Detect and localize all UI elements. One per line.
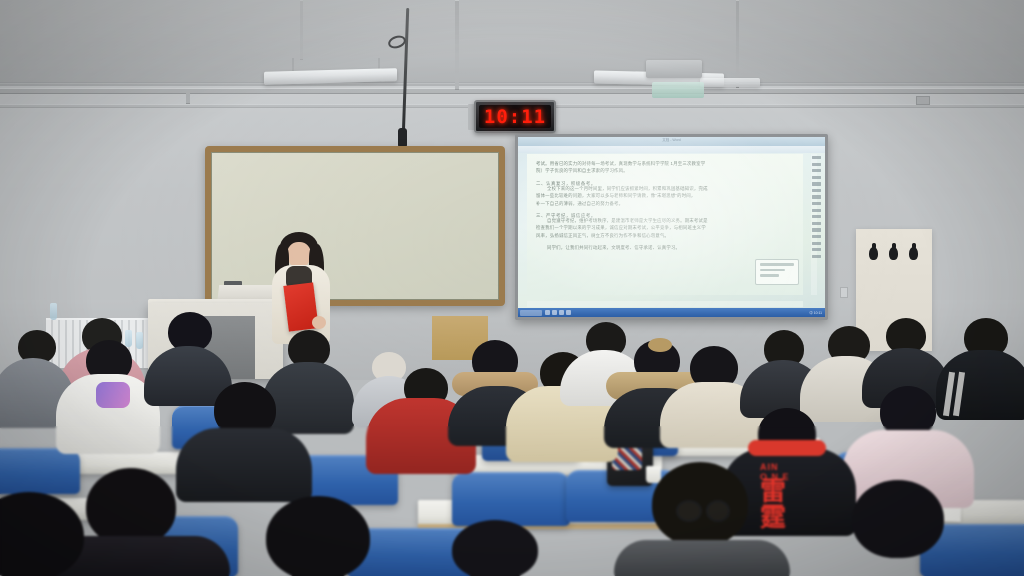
conduit-pipe-vertical bbox=[186, 88, 190, 104]
projected-image: 文档 - Word 考试。用省已的实力的对待每一场考试，真现数学与系统科学学院 … bbox=[518, 137, 825, 317]
toolbar-icon[interactable] bbox=[812, 169, 821, 172]
document-line: 检查我们一个学期以来的学习成果，诚信应对期末考试，公平竞争，与相同班主义学 bbox=[536, 224, 794, 231]
ribbon-toolbar bbox=[518, 146, 825, 153]
presenter-at-podium bbox=[268, 232, 334, 344]
taskbar-icon[interactable] bbox=[552, 310, 557, 315]
status-bar bbox=[527, 301, 803, 307]
water-bottle bbox=[136, 332, 143, 349]
toolbar-icon[interactable] bbox=[812, 163, 821, 166]
student-head bbox=[266, 496, 370, 576]
taskbar[interactable]: 中 10:11 bbox=[518, 308, 825, 317]
conduit-pipe-vertical bbox=[300, 0, 303, 60]
toolbar-icon[interactable] bbox=[812, 189, 821, 192]
hoodie-graphic bbox=[96, 382, 130, 408]
conduit-pipe-horizontal bbox=[0, 88, 1024, 94]
toolbar-icon[interactable] bbox=[812, 222, 821, 225]
student-head bbox=[452, 520, 538, 576]
hair-scrunchie bbox=[648, 338, 672, 352]
window-titlebar: 文档 - Word bbox=[518, 137, 825, 146]
eyeglasses-icon bbox=[676, 500, 702, 522]
ceiling-seam bbox=[0, 82, 1024, 84]
projector-lens bbox=[652, 82, 704, 98]
coat-hook-icon bbox=[909, 247, 918, 260]
toolbar-icon[interactable] bbox=[812, 242, 821, 245]
water-bottle bbox=[50, 303, 57, 320]
toolbar-icon[interactable] bbox=[812, 176, 821, 179]
toolbar-icon[interactable] bbox=[812, 248, 821, 251]
student-jacket bbox=[262, 362, 354, 434]
classroom-chair bbox=[0, 448, 80, 494]
student-head bbox=[852, 480, 944, 558]
coat-hook-icon bbox=[869, 247, 878, 260]
student-jacket bbox=[614, 540, 790, 576]
document-line: 院）学子优良的学风和自主求索的学习作风。 bbox=[536, 167, 794, 174]
student-head bbox=[652, 462, 748, 546]
light-switch[interactable] bbox=[840, 287, 848, 298]
toolbar-icon[interactable] bbox=[812, 202, 821, 205]
toolbar-icon[interactable] bbox=[812, 182, 821, 185]
conduit-pipe-vertical bbox=[455, 0, 459, 90]
whiteboard bbox=[205, 146, 505, 306]
taskbar-icon[interactable] bbox=[559, 310, 564, 315]
clock-time: 10:11 bbox=[484, 106, 546, 128]
presenter-hand bbox=[312, 316, 326, 329]
classroom-photo: 10:11 文档 - Word 考试。用省已的实力的对待每一场考试，真现数学与系… bbox=[0, 0, 1024, 576]
student-head bbox=[86, 468, 176, 546]
taskbar-tray: 中 10:11 bbox=[809, 310, 822, 315]
dialog-line bbox=[760, 274, 779, 277]
hanging-microphone bbox=[398, 128, 407, 148]
document-line: 自觉遵守考纪，维护考场秩序，是建温市老师是大学生应尽的义务。期末考试是 bbox=[536, 217, 794, 224]
jacket-text-line2: 雷 霆 bbox=[760, 478, 790, 530]
toolbar-icon[interactable] bbox=[812, 228, 821, 231]
fluorescent-tube-light bbox=[700, 78, 760, 87]
side-toolbar[interactable] bbox=[809, 151, 824, 297]
ceiling-projector bbox=[646, 60, 702, 78]
coat-hook-icon bbox=[889, 247, 898, 260]
window-title: 文档 - Word bbox=[662, 138, 680, 143]
document-line: 补一下自己的薄弱，通过自己的努力备考。 bbox=[536, 200, 794, 207]
taskbar-icon[interactable] bbox=[566, 310, 571, 315]
document-line: 全校下来的这一个月时间里，同学们应该抓紧时间，积累和巩固基础知识，完成 bbox=[536, 185, 794, 192]
classroom-chair bbox=[452, 472, 570, 526]
toolbar-icon[interactable] bbox=[812, 215, 821, 218]
ceiling bbox=[0, 0, 1024, 86]
taskbar-icons[interactable] bbox=[545, 310, 571, 315]
toolbar-icon[interactable] bbox=[812, 235, 821, 238]
conduit-pipe-vertical bbox=[736, 0, 739, 88]
taskbar-icon[interactable] bbox=[545, 310, 550, 315]
document-line: 考试。用省已的实力的对待每一场考试，真现数学与系统科学学院 1月至三次教室学 bbox=[536, 160, 794, 167]
light-hanger bbox=[292, 58, 294, 71]
eyeglasses-icon bbox=[706, 500, 730, 522]
toolbar-icon[interactable] bbox=[812, 156, 821, 159]
projection-screen: 文档 - Word 考试。用省已的实力的对待每一场考试，真现数学与系统科学学院 … bbox=[515, 134, 828, 320]
student-jacket bbox=[176, 428, 312, 502]
floating-dialog[interactable] bbox=[755, 259, 799, 285]
start-button[interactable] bbox=[520, 310, 542, 316]
red-collar bbox=[748, 440, 826, 456]
whiteboard-surface bbox=[211, 152, 499, 300]
toolbar-icon[interactable] bbox=[812, 195, 821, 198]
toolbar-icon[interactable] bbox=[812, 255, 821, 258]
wall-plate bbox=[916, 96, 930, 105]
dialog-line bbox=[760, 269, 785, 272]
led-wall-clock: 10:11 bbox=[474, 100, 556, 133]
toolbar-icon[interactable] bbox=[812, 209, 821, 212]
water-bottle bbox=[125, 330, 132, 347]
dialog-line bbox=[760, 263, 794, 266]
document-line: 留体一些比较难的问题，大家可以多与老师和同学请教，像“末堪思想”的时间， bbox=[536, 192, 794, 199]
document-line: 同学们，让我们共同行动起来，文明度考、信守承诺、认真学习。 bbox=[536, 244, 794, 251]
clock-face: 10:11 bbox=[479, 105, 551, 128]
document-line: 风率，弘扬诚信正风正气，树立方不良行为作不争和信心勿意气。 bbox=[536, 232, 794, 239]
